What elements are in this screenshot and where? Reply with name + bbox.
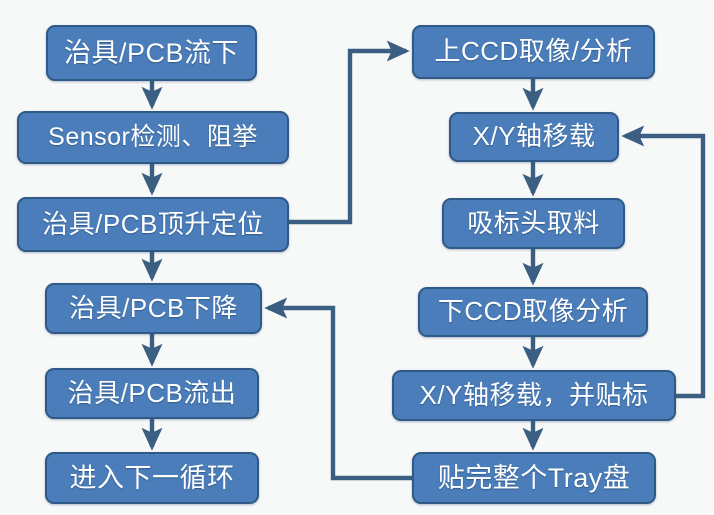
- node-label: 上CCD取像/分析: [434, 38, 632, 65]
- node-label: Sensor检测、阻挙: [48, 124, 258, 150]
- node-lower-ccd-capture-analyze[interactable]: 下CCD取像分析: [418, 287, 648, 337]
- node-label: 进入下一循环: [70, 464, 235, 492]
- node-label: 吸标头取料: [467, 210, 600, 237]
- node-label: 治具/PCB流出: [68, 380, 237, 407]
- node-upper-ccd-capture-analyze[interactable]: 上CCD取像/分析: [412, 25, 655, 79]
- node-jig-pcb-flow-out[interactable]: 治具/PCB流出: [45, 368, 259, 419]
- node-sensor-detect-block[interactable]: Sensor检测、阻挙: [17, 111, 289, 164]
- node-finish-whole-tray[interactable]: 贴完整个Tray盘: [412, 452, 656, 504]
- node-enter-next-cycle[interactable]: 进入下一循环: [45, 452, 259, 504]
- node-label: X/Y轴移载: [473, 123, 596, 150]
- node-label: 治具/PCB流下: [64, 39, 239, 67]
- edge-tray-to-descend: [268, 308, 412, 478]
- node-jig-pcb-lift-position[interactable]: 治具/PCB顶升定位: [17, 197, 289, 252]
- node-xy-axis-transfer-and-label[interactable]: X/Y轴移载，并贴标: [392, 370, 676, 421]
- edge-lift-to-upper-ccd: [289, 51, 406, 222]
- node-label: 治具/PCB下降: [69, 295, 238, 322]
- node-label: 下CCD取像分析: [438, 298, 628, 325]
- node-label: X/Y轴移载，并贴标: [420, 382, 649, 409]
- node-label: 贴完整个Tray盘: [438, 464, 631, 492]
- node-xy-axis-transfer[interactable]: X/Y轴移载: [449, 112, 619, 162]
- edge-xy-label-loop-back-to-xy: [625, 136, 703, 396]
- node-label: 治具/PCB顶升定位: [42, 211, 264, 238]
- node-jig-pcb-flow-in[interactable]: 治具/PCB流下: [46, 25, 257, 81]
- flowchart-canvas: 治具/PCB流下 Sensor检测、阻挙 治具/PCB顶升定位 治具/PCB下降…: [0, 0, 714, 515]
- node-suction-head-pick[interactable]: 吸标头取料: [442, 198, 625, 249]
- node-jig-pcb-descend[interactable]: 治具/PCB下降: [45, 283, 262, 334]
